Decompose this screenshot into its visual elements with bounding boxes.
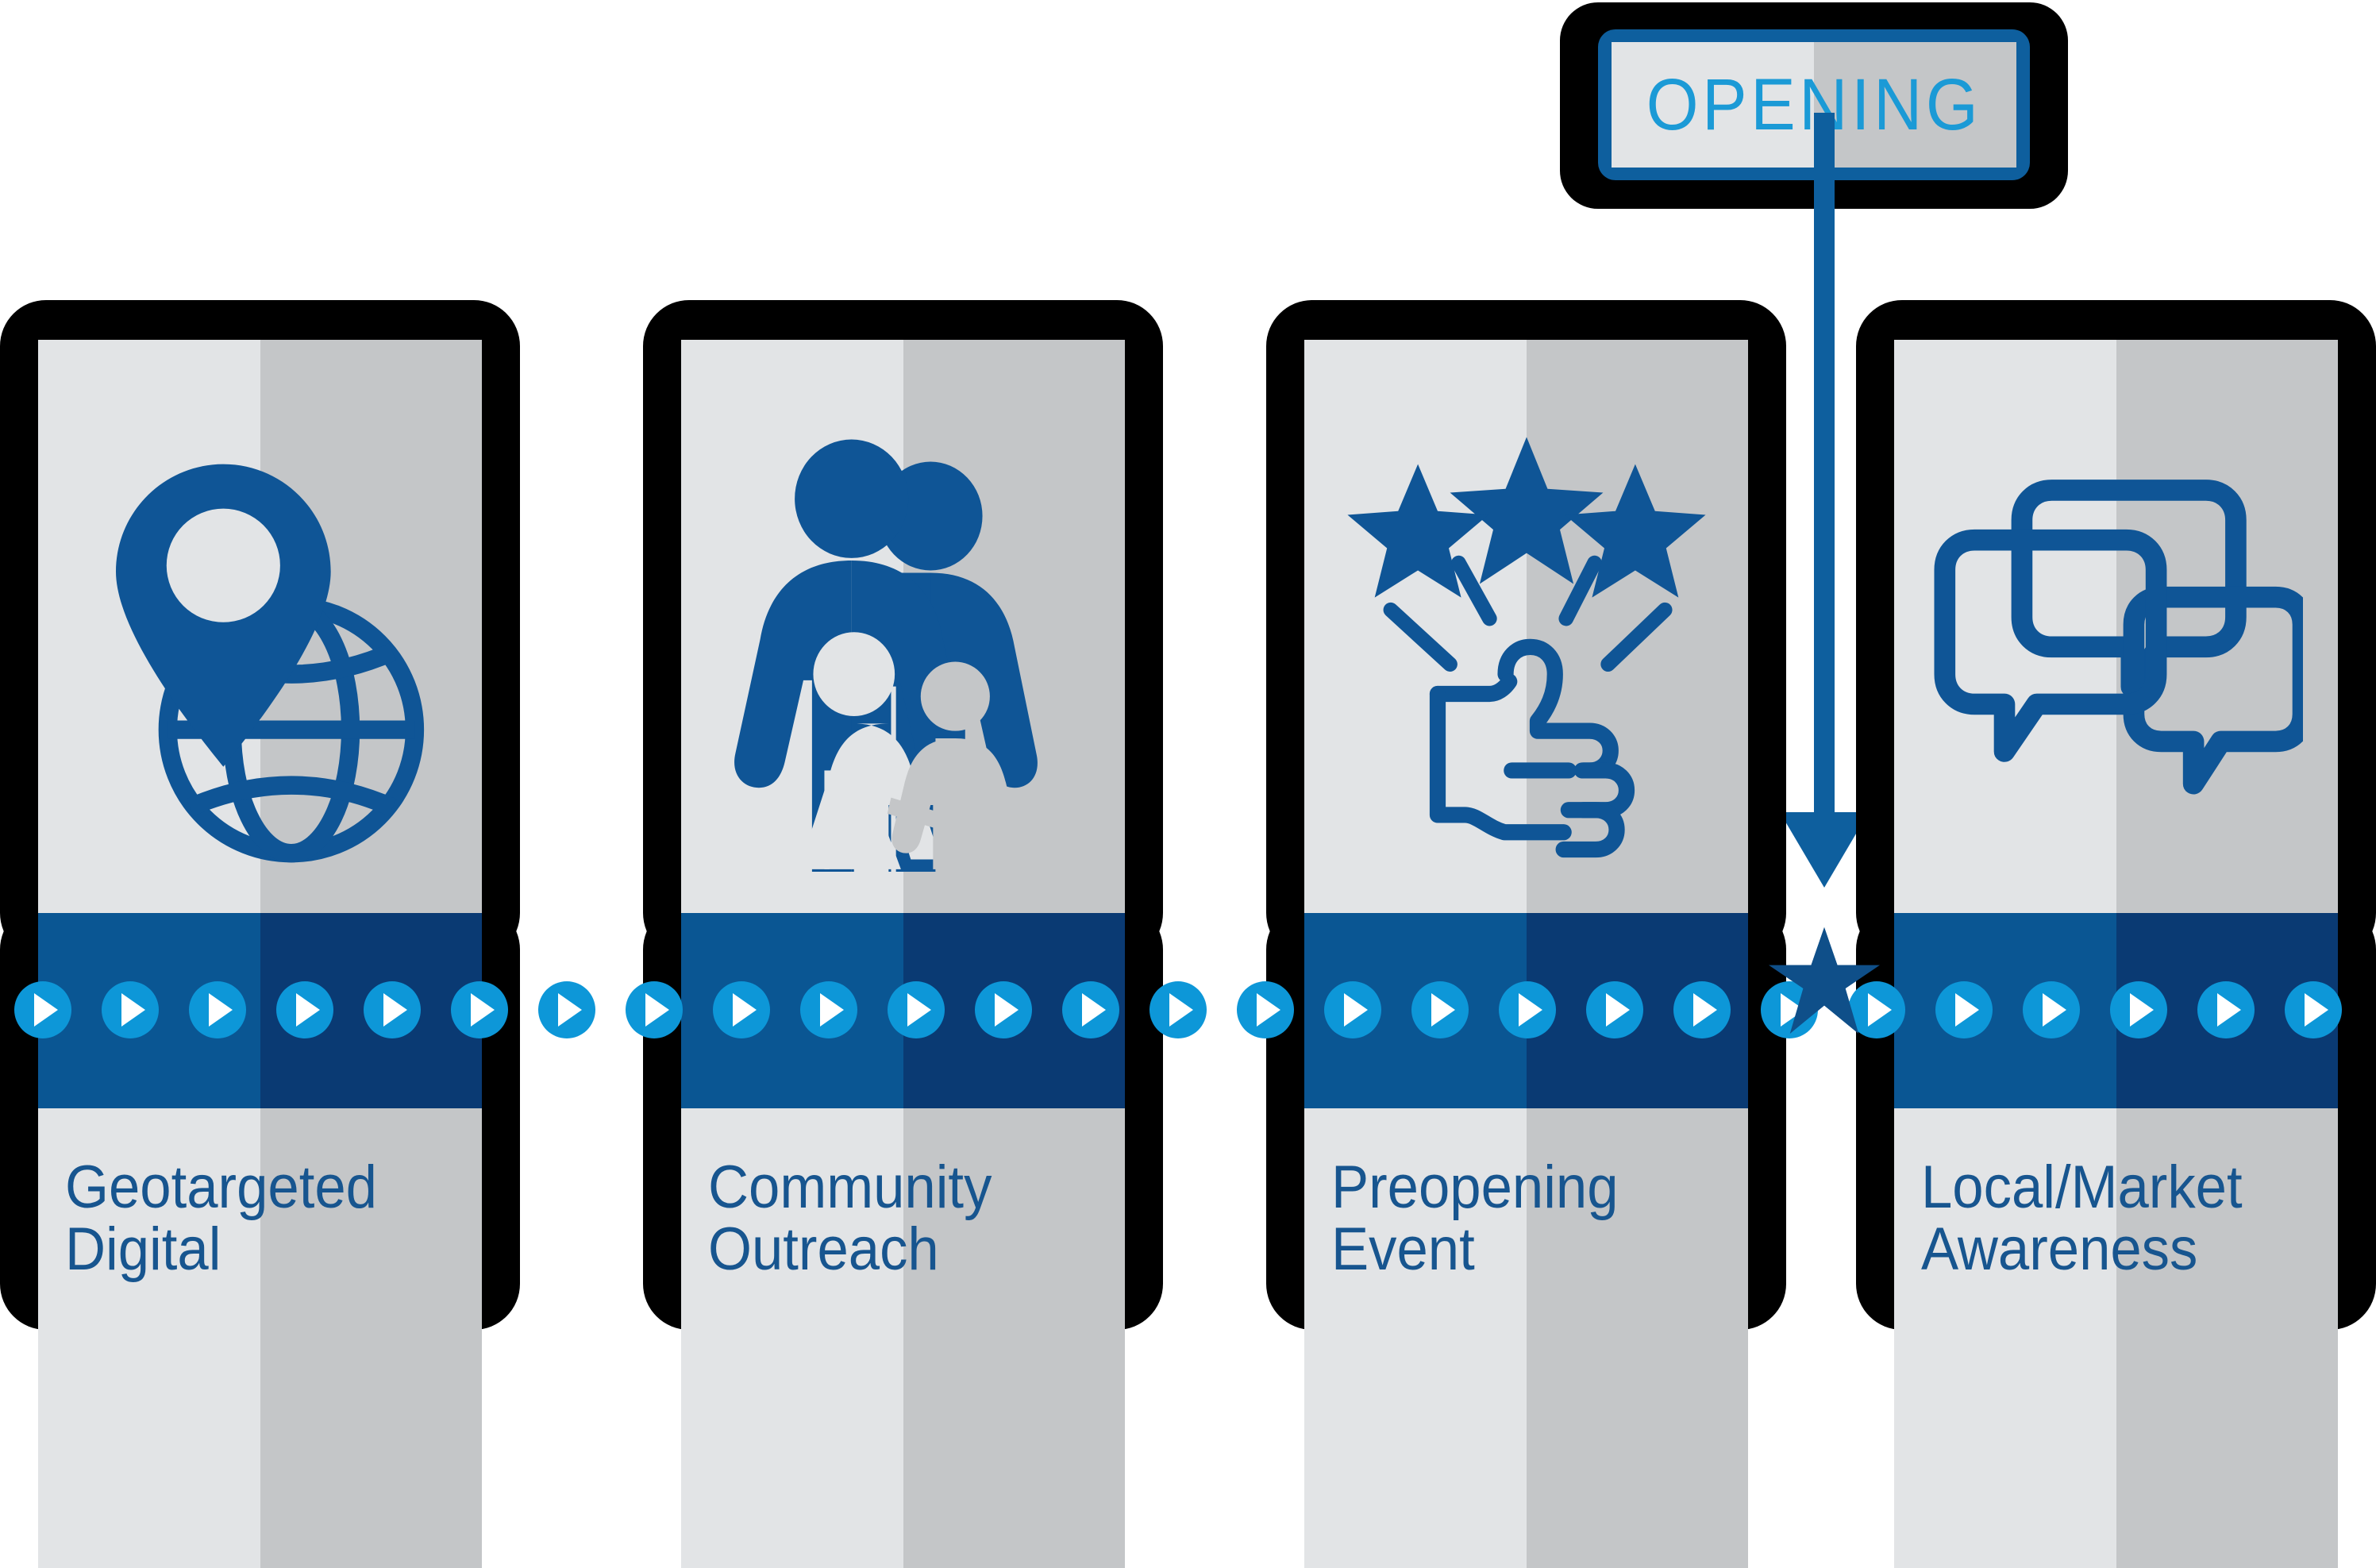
play-arrow-icon [626, 981, 683, 1038]
card-label-panel: Local/Market Awareness [1894, 1108, 2338, 1568]
play-arrow-icon [713, 981, 770, 1038]
play-arrow-icon [189, 981, 246, 1038]
play-arrow-icon [2197, 981, 2255, 1038]
play-arrow-icon [538, 981, 595, 1038]
card-title: Preopening Event [1331, 1157, 1712, 1281]
card-label-panel: Preopening Event [1304, 1108, 1748, 1568]
play-arrow-icon [14, 981, 71, 1038]
card-community-outreach[interactable]: Community Outreach [643, 300, 1163, 1330]
play-arrow-icon [1237, 981, 1294, 1038]
play-arrow-strip [0, 981, 2376, 1042]
play-arrow-icon [102, 981, 159, 1038]
play-arrow-icon [1149, 981, 1207, 1038]
play-arrow-icon [1411, 981, 1469, 1038]
play-arrow-icon [1586, 981, 1643, 1038]
thumbs-up-stars-icon [1304, 340, 1748, 959]
play-arrow-icon [2023, 981, 2080, 1038]
card-title: Community Outreach [708, 1157, 1088, 1281]
play-arrow-icon [1499, 981, 1556, 1038]
card-icon-panel [1304, 340, 1748, 959]
card-geotargeted-digital[interactable]: Geotargeted Digital [0, 300, 520, 1330]
card-local-market-awareness[interactable]: Local/Market Awareness [1856, 300, 2376, 1330]
play-arrow-icon [1324, 981, 1381, 1038]
card-icon-panel [38, 340, 482, 959]
play-arrow-icon [2285, 981, 2342, 1038]
family-group-icon [681, 340, 1125, 959]
play-arrow-icon [2110, 981, 2167, 1038]
play-arrow-icon [276, 981, 333, 1038]
card-label-panel: Geotargeted Digital [38, 1108, 482, 1568]
card-title: Geotargeted Digital [65, 1157, 445, 1281]
opening-connector-line [1814, 113, 1835, 851]
play-arrow-icon [1673, 981, 1731, 1038]
card-icon-panel [681, 340, 1125, 959]
play-arrow-icon [451, 981, 508, 1038]
card-icon-panel [1894, 340, 2338, 959]
play-arrow-icon [1935, 981, 1993, 1038]
card-preopening-event[interactable]: Preopening Event [1266, 300, 1786, 1330]
card-label-panel: Community Outreach [681, 1108, 1125, 1568]
speech-bubbles-icon [1894, 340, 2338, 959]
play-arrow-icon [975, 981, 1032, 1038]
infographic-canvas: OPENING [0, 0, 2376, 1343]
play-arrow-icon [364, 981, 421, 1038]
map-pin-globe-icon [38, 340, 482, 959]
play-arrow-icon [1062, 981, 1119, 1038]
play-arrow-icon [888, 981, 945, 1038]
play-arrow-icon [800, 981, 857, 1038]
card-title: Local/Market Awareness [1921, 1157, 2301, 1281]
